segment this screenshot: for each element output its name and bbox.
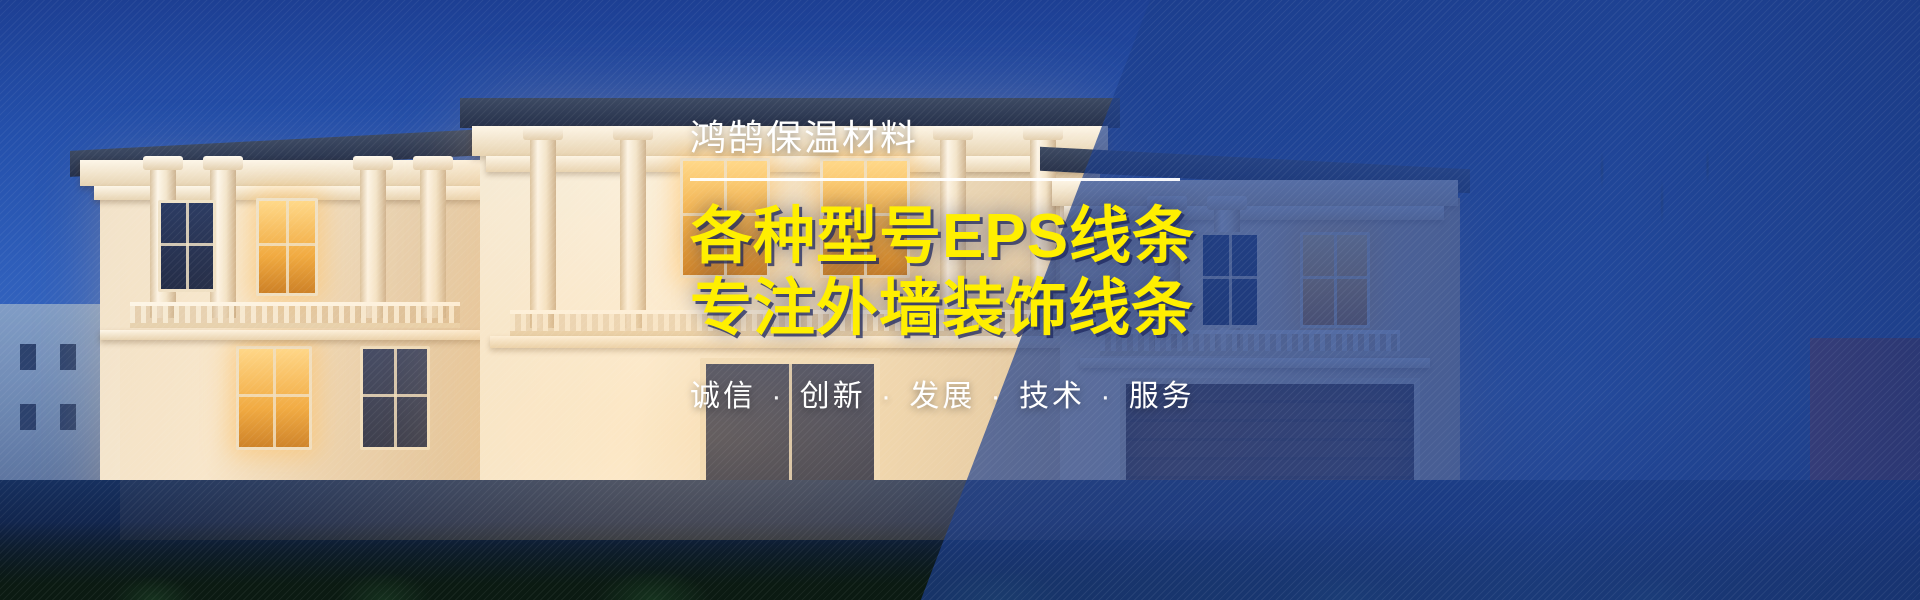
tagline-separator: ·: [866, 380, 910, 413]
tagline-item: 诚信: [690, 380, 756, 413]
tagline: 诚信 · 创新 · 发展 · 技术 · 服务: [690, 371, 1330, 415]
tagline-separator: ·: [975, 380, 1019, 413]
tagline-item: 发展: [909, 380, 975, 413]
tree-branch: [1530, 130, 1770, 330]
window: [158, 200, 216, 292]
tagline-item: 服务: [1129, 380, 1195, 413]
window: [360, 346, 430, 450]
headline: 各种型号EPS线条 专注外墙装饰线条: [690, 201, 1330, 345]
headline-line-2: 专注外墙装饰线条: [690, 273, 1330, 345]
window-lit: [256, 198, 318, 296]
tagline-item: 技术: [1019, 380, 1085, 413]
tagline-separator: ·: [756, 380, 800, 413]
tagline-item: 创新: [800, 380, 866, 413]
company-name: 鸿鹄保温材料: [690, 120, 1330, 156]
foreground-hedge: [0, 522, 1920, 600]
banner-hero: 鸿鹄保温材料 各种型号EPS线条 专注外墙装饰线条 诚信 · 创新 · 发展 ·…: [0, 0, 1920, 600]
tagline-separator: ·: [1085, 380, 1129, 413]
banner-copy: 鸿鹄保温材料 各种型号EPS线条 专注外墙装饰线条 诚信 · 创新 · 发展 ·…: [690, 120, 1330, 415]
divider-rule: [690, 178, 1180, 181]
window-lit: [236, 346, 312, 450]
headline-line-1: 各种型号EPS线条: [690, 201, 1330, 273]
